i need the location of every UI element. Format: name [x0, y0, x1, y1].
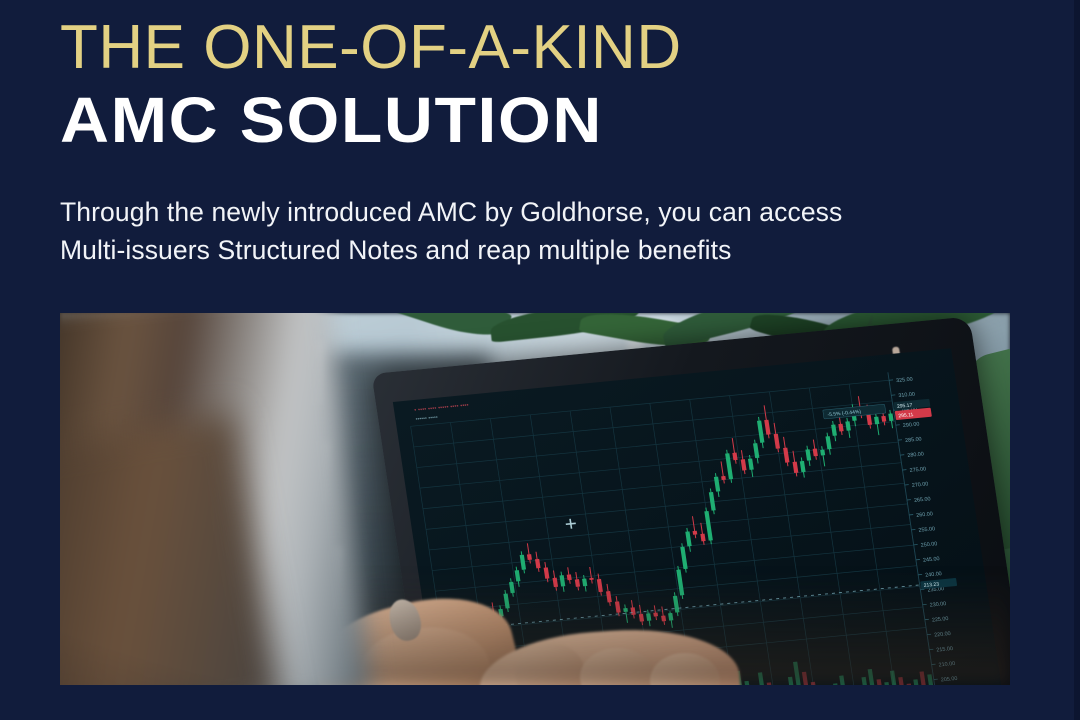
svg-text:290.00: 290.00: [903, 422, 920, 430]
svg-text:280.00: 280.00: [907, 451, 924, 459]
subtitle-line-1: Through the newly introduced AMC by Gold…: [60, 193, 1010, 231]
subtitle-paragraph: Through the newly introduced AMC by Gold…: [60, 193, 1010, 269]
svg-text:260.00: 260.00: [916, 511, 933, 519]
svg-text:255.00: 255.00: [918, 526, 935, 534]
svg-text:275.00: 275.00: [909, 466, 926, 474]
svg-text:285.00: 285.00: [905, 436, 922, 444]
page-title: AMC SOLUTION: [60, 84, 603, 156]
right-edge-strip: [1074, 0, 1080, 720]
svg-text:245.00: 245.00: [923, 556, 940, 564]
svg-text:• •••• •••• ••••• •••• ••••: • •••• •••• ••••• •••• ••••: [414, 403, 469, 414]
svg-text:325.00: 325.00: [896, 377, 913, 385]
slide-root: THE ONE-OF-A-KIND AMC SOLUTION Through t…: [0, 0, 1080, 720]
eyebrow-heading: THE ONE-OF-A-KIND: [60, 13, 682, 83]
subtitle-line-2: Multi-issuers Structured Notes and reap …: [60, 231, 1010, 269]
svg-text:250.00: 250.00: [920, 541, 937, 549]
svg-text:270.00: 270.00: [911, 481, 928, 489]
hero-photo: O O O N M K 325.00310.00295.00290.00285.…: [60, 313, 1010, 685]
svg-text:265.00: 265.00: [914, 496, 931, 504]
svg-text:310.00: 310.00: [898, 392, 915, 400]
svg-text:•••••• •••••: •••••• •••••: [415, 415, 438, 423]
